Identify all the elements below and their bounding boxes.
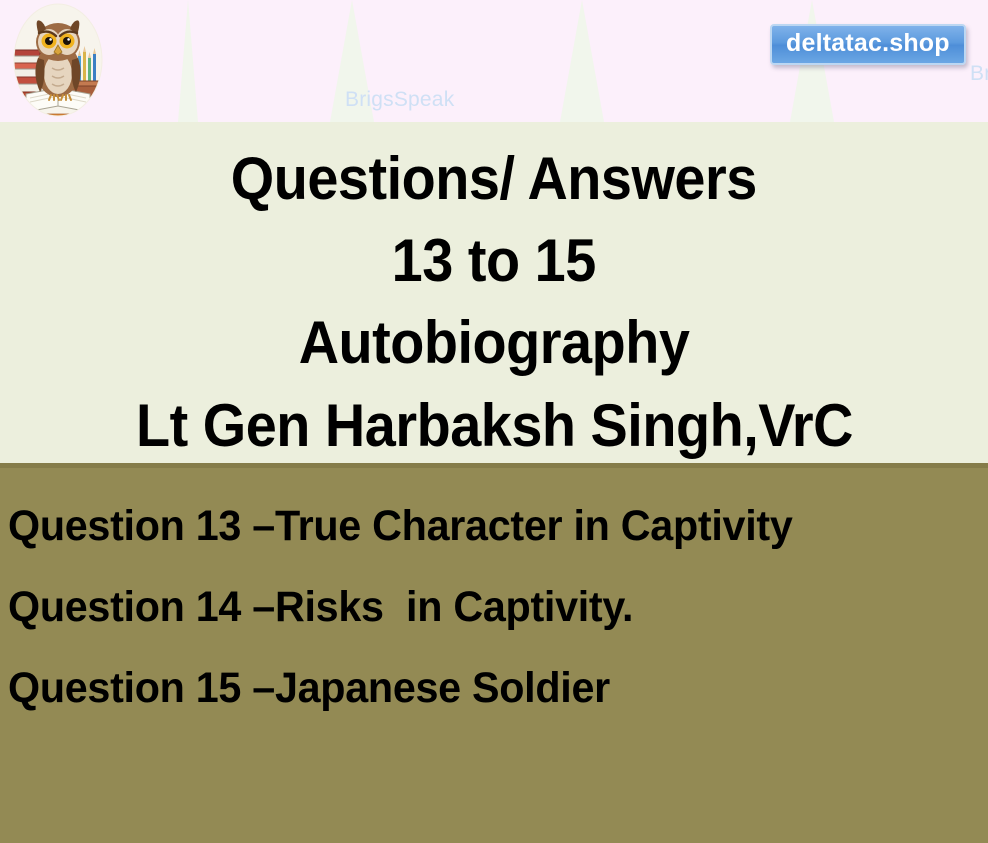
watermark-brigsspeak: BrigsSpeak xyxy=(345,88,454,112)
owl-logo-icon xyxy=(6,2,110,124)
watermark-brigsspeak-edge: Br xyxy=(970,62,988,86)
questions-panel: Question 13 –True Character in Captivity… xyxy=(0,463,988,843)
title-panel: Questions/ Answers 13 to 15 Autobiograph… xyxy=(0,122,988,463)
question-item-14: Question 14 –Risks in Captivity. xyxy=(8,567,949,648)
decorative-cone-shape xyxy=(178,0,198,122)
title-line-1: Questions/ Answers xyxy=(231,138,757,220)
question-item-15: Question 15 –Japanese Soldier xyxy=(8,648,949,729)
brand-badge-deltatac[interactable]: deltatac.shop xyxy=(770,24,966,65)
title-line-3: Autobiography xyxy=(299,302,690,384)
decorative-cone-shape xyxy=(560,0,604,122)
question-item-13: Question 13 –True Character in Captivity xyxy=(8,486,949,567)
title-line-4: Lt Gen Harbaksh Singh,VrC xyxy=(135,385,852,467)
title-line-2: 13 to 15 xyxy=(392,220,596,302)
presentation-slide: BrigsSpeak Br xyxy=(0,0,988,843)
